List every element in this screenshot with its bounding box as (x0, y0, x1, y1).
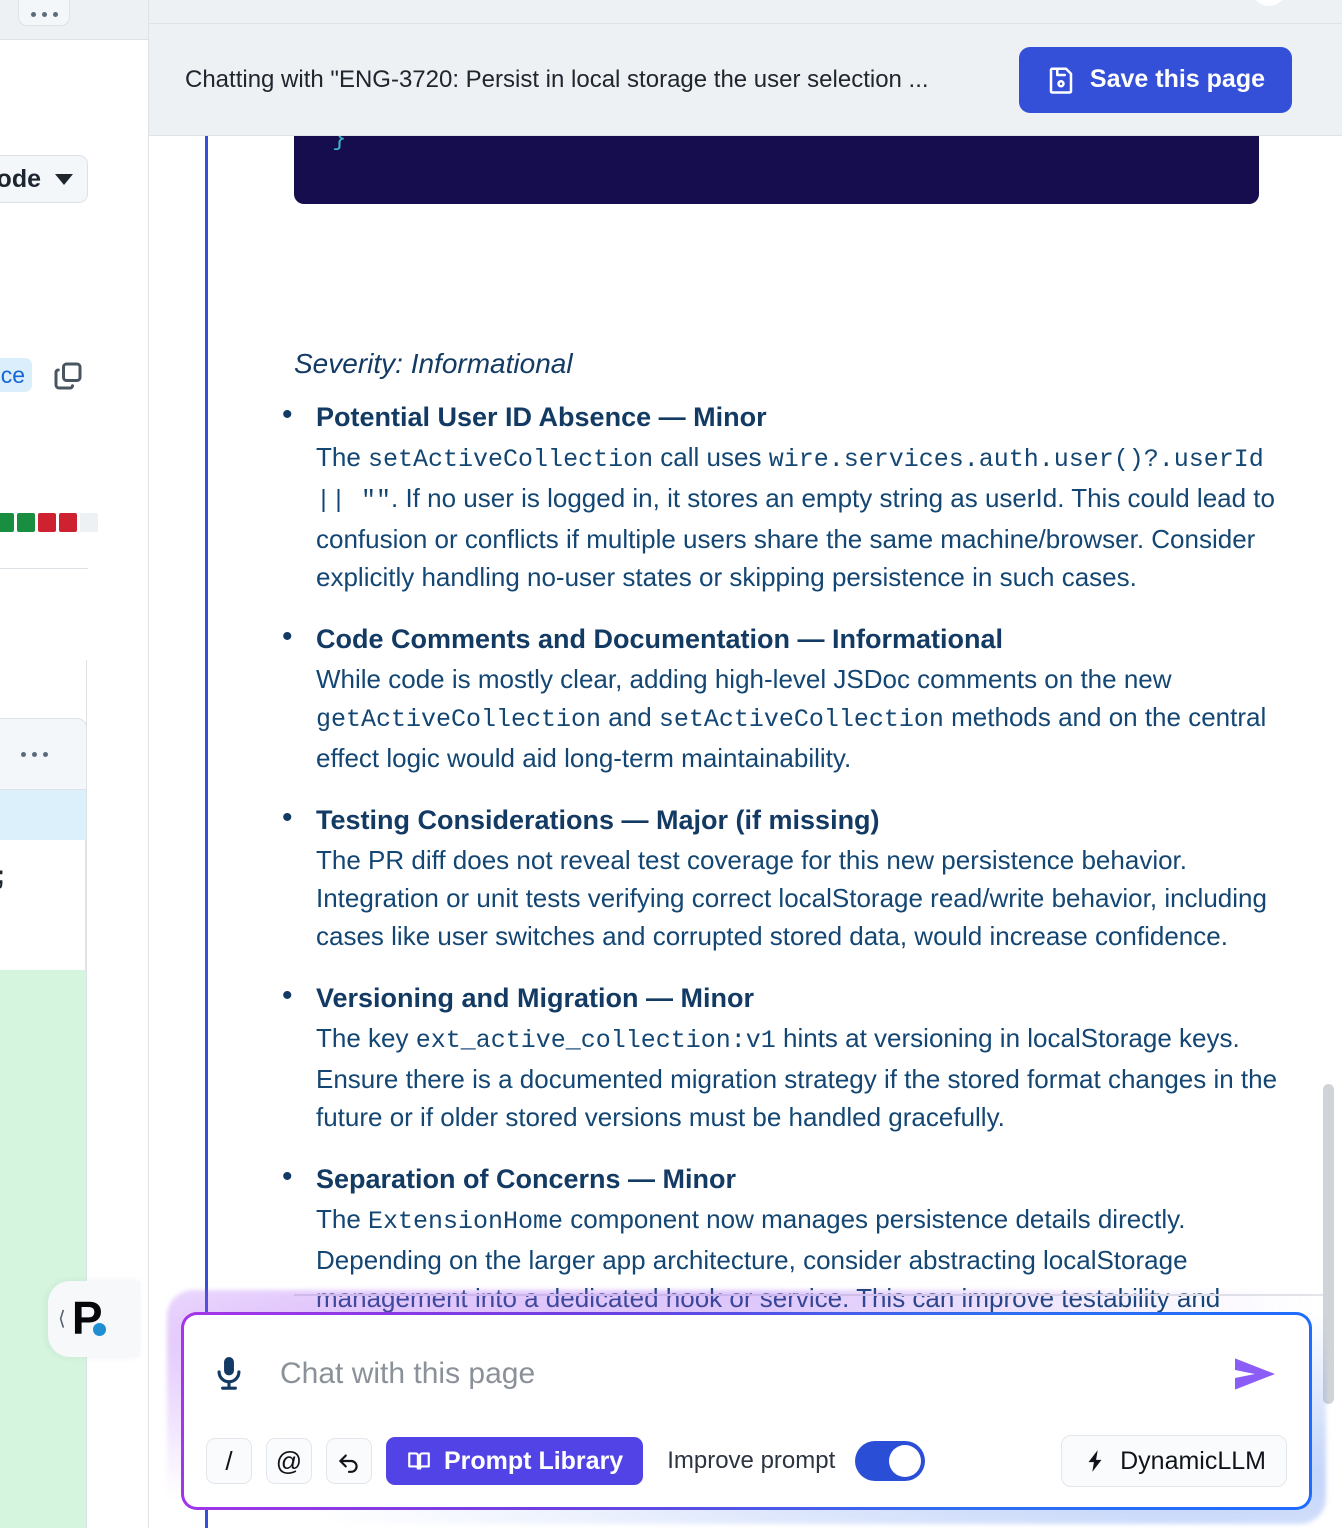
sidebar-collapse-handle[interactable]: ⟨ P (48, 1281, 140, 1357)
inline-code: ExtensionHome (368, 1207, 563, 1236)
copy-icon[interactable] (50, 358, 86, 399)
inline-code: setActiveCollection (368, 445, 653, 474)
ellipsis-horizontal-icon (18, 752, 51, 757)
lightning-bolt-icon (1082, 1448, 1108, 1474)
severity-line: Severity: Informational (294, 348, 573, 380)
finding-text: The (316, 1204, 368, 1234)
app-logo: P (72, 1298, 102, 1339)
diff-gutter-line (86, 660, 87, 1528)
finding-title: Code Comments and Documentation — Inform… (316, 620, 1302, 658)
composer-toolbar: / @ (206, 1435, 1287, 1489)
composer-input-row (206, 1315, 1287, 1433)
finding-title: Testing Considerations — Major (if missi… (316, 801, 1302, 839)
microphone-button[interactable] (206, 1353, 252, 1395)
floppy-disk-save-icon (1046, 65, 1076, 95)
underlying-page-topbar (0, 0, 148, 40)
send-button[interactable] (1223, 1354, 1287, 1394)
page-mode-dropdown-label: ode (0, 165, 41, 194)
send-paper-plane-icon (1231, 1354, 1279, 1394)
finding-title: Potential User ID Absence — Minor (316, 398, 1302, 436)
finding-text: The (316, 442, 368, 472)
save-this-page-button[interactable]: Save this page (1019, 47, 1292, 113)
improve-prompt-toggle[interactable] (855, 1441, 925, 1481)
chat-panel: Chatting with "ENG-3720: Persist in loca… (148, 0, 1342, 1528)
model-selector-button[interactable]: DynamicLLM (1061, 1435, 1287, 1487)
chat-input[interactable] (278, 1356, 1197, 1392)
chat-context-title: Chatting with "ENG-3720: Persist in loca… (185, 66, 1001, 94)
chevron-left-icon[interactable]: ⟨ (58, 1309, 66, 1329)
chatting-with-label: Chatting with (185, 66, 324, 93)
findings-list: Potential User ID Absence — MinorThe set… (266, 398, 1302, 1379)
finding-item: Testing Considerations — Major (if missi… (316, 801, 1302, 955)
diff-line-plain (0, 840, 86, 970)
chat-composer-wrapper: / @ (181, 1312, 1312, 1510)
finding-text: While code is mostly clear, adding high-… (316, 664, 1172, 694)
diff-code-fragment: ; (0, 860, 5, 891)
diff-line-highlight-blue (0, 790, 86, 840)
save-this-page-label: Save this page (1090, 65, 1265, 94)
panel-notch (1252, 0, 1286, 6)
finding-title: Separation of Concerns — Minor (316, 1160, 1302, 1198)
finding-item: Code Comments and Documentation — Inform… (316, 620, 1302, 777)
finding-item: Versioning and Migration — MinorThe key … (316, 979, 1302, 1136)
finding-text: . If no user is logged in, it stores an … (316, 483, 1275, 592)
logo-dot (93, 1323, 106, 1336)
code-block-text: } (332, 136, 346, 153)
finding-text: and (601, 702, 659, 732)
ellipsis-horizontal-icon (28, 12, 61, 17)
mention-button[interactable]: @ (266, 1438, 312, 1484)
finding-text: The PR diff does not reveal test coverag… (316, 845, 1267, 951)
chat-composer: / @ (181, 1312, 1312, 1510)
diff-line-highlight-green (0, 970, 86, 1528)
finding-item: Potential User ID Absence — MinorThe set… (316, 398, 1302, 596)
page-file-chip-label: ce (1, 362, 25, 389)
finding-title: Versioning and Migration — Minor (316, 979, 1302, 1017)
chat-header: Chatting with "ENG-3720: Persist in loca… (149, 24, 1342, 136)
finding-body: The PR diff does not reveal test coverag… (316, 841, 1291, 955)
slash-icon: / (225, 1446, 232, 1477)
page-divider (0, 568, 88, 569)
finding-body: While code is mostly clear, adding high-… (316, 660, 1291, 777)
chat-page-title: "ENG-3720: Persist in local storage the … (330, 66, 928, 93)
improve-prompt-label: Improve prompt (667, 1447, 835, 1475)
inline-code: ext_active_collection:v1 (416, 1026, 776, 1055)
undo-arrow-icon (336, 1448, 362, 1474)
book-open-icon (406, 1448, 432, 1474)
finding-text: call uses (653, 442, 769, 472)
diff-stat-squares (0, 513, 98, 532)
prompt-library-button[interactable]: Prompt Library (386, 1437, 643, 1485)
inline-code: getActiveCollection (316, 705, 601, 734)
finding-body: The setActiveCollection call uses wire.s… (316, 438, 1291, 596)
page-kebab-menu-button[interactable] (18, 0, 70, 26)
model-selector-label: DynamicLLM (1120, 1447, 1266, 1476)
page-file-chip[interactable]: ce (0, 358, 32, 392)
page-row-kebab-button[interactable] (0, 718, 87, 790)
microphone-icon (212, 1353, 246, 1395)
undo-button[interactable] (326, 1438, 372, 1484)
at-icon: @ (276, 1446, 302, 1477)
finding-text: The key (316, 1023, 416, 1053)
finding-body: The key ext_active_collection:v1 hints a… (316, 1019, 1291, 1136)
chevron-down-icon (55, 174, 73, 185)
slash-command-button[interactable]: / (206, 1438, 252, 1484)
page-mode-dropdown[interactable]: ode (0, 155, 88, 203)
inline-code: setActiveCollection (659, 705, 944, 734)
chat-panel-topstrip (149, 0, 1342, 24)
code-block: } (294, 136, 1259, 204)
prompt-library-label: Prompt Library (444, 1447, 623, 1476)
